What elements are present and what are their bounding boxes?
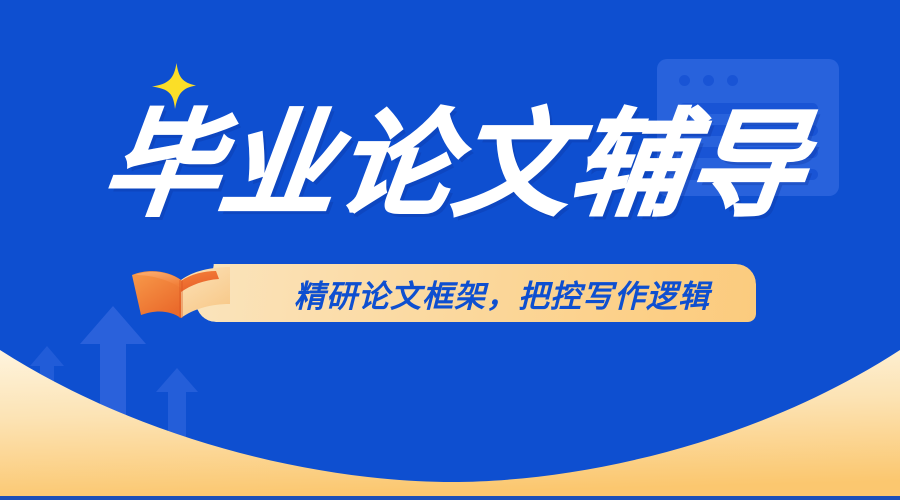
page-title: 毕业论文辅导: [96, 101, 872, 229]
bottom-wave-shape: [0, 350, 900, 500]
document-card-dot: [703, 75, 714, 86]
document-card-dot: [727, 75, 738, 86]
bottom-accent-bar: [0, 496, 900, 500]
subtitle-ribbon: 精研论文框架，把控写作逻辑: [196, 264, 756, 322]
open-book-icon: [131, 266, 231, 324]
poster-canvas: 毕业论文辅导 精研论文框架，把控写作逻辑: [0, 0, 900, 500]
document-card-dot: [679, 75, 690, 86]
document-card-dots: [679, 75, 738, 86]
subtitle-text: 精研论文框架，把控写作逻辑: [196, 264, 756, 322]
